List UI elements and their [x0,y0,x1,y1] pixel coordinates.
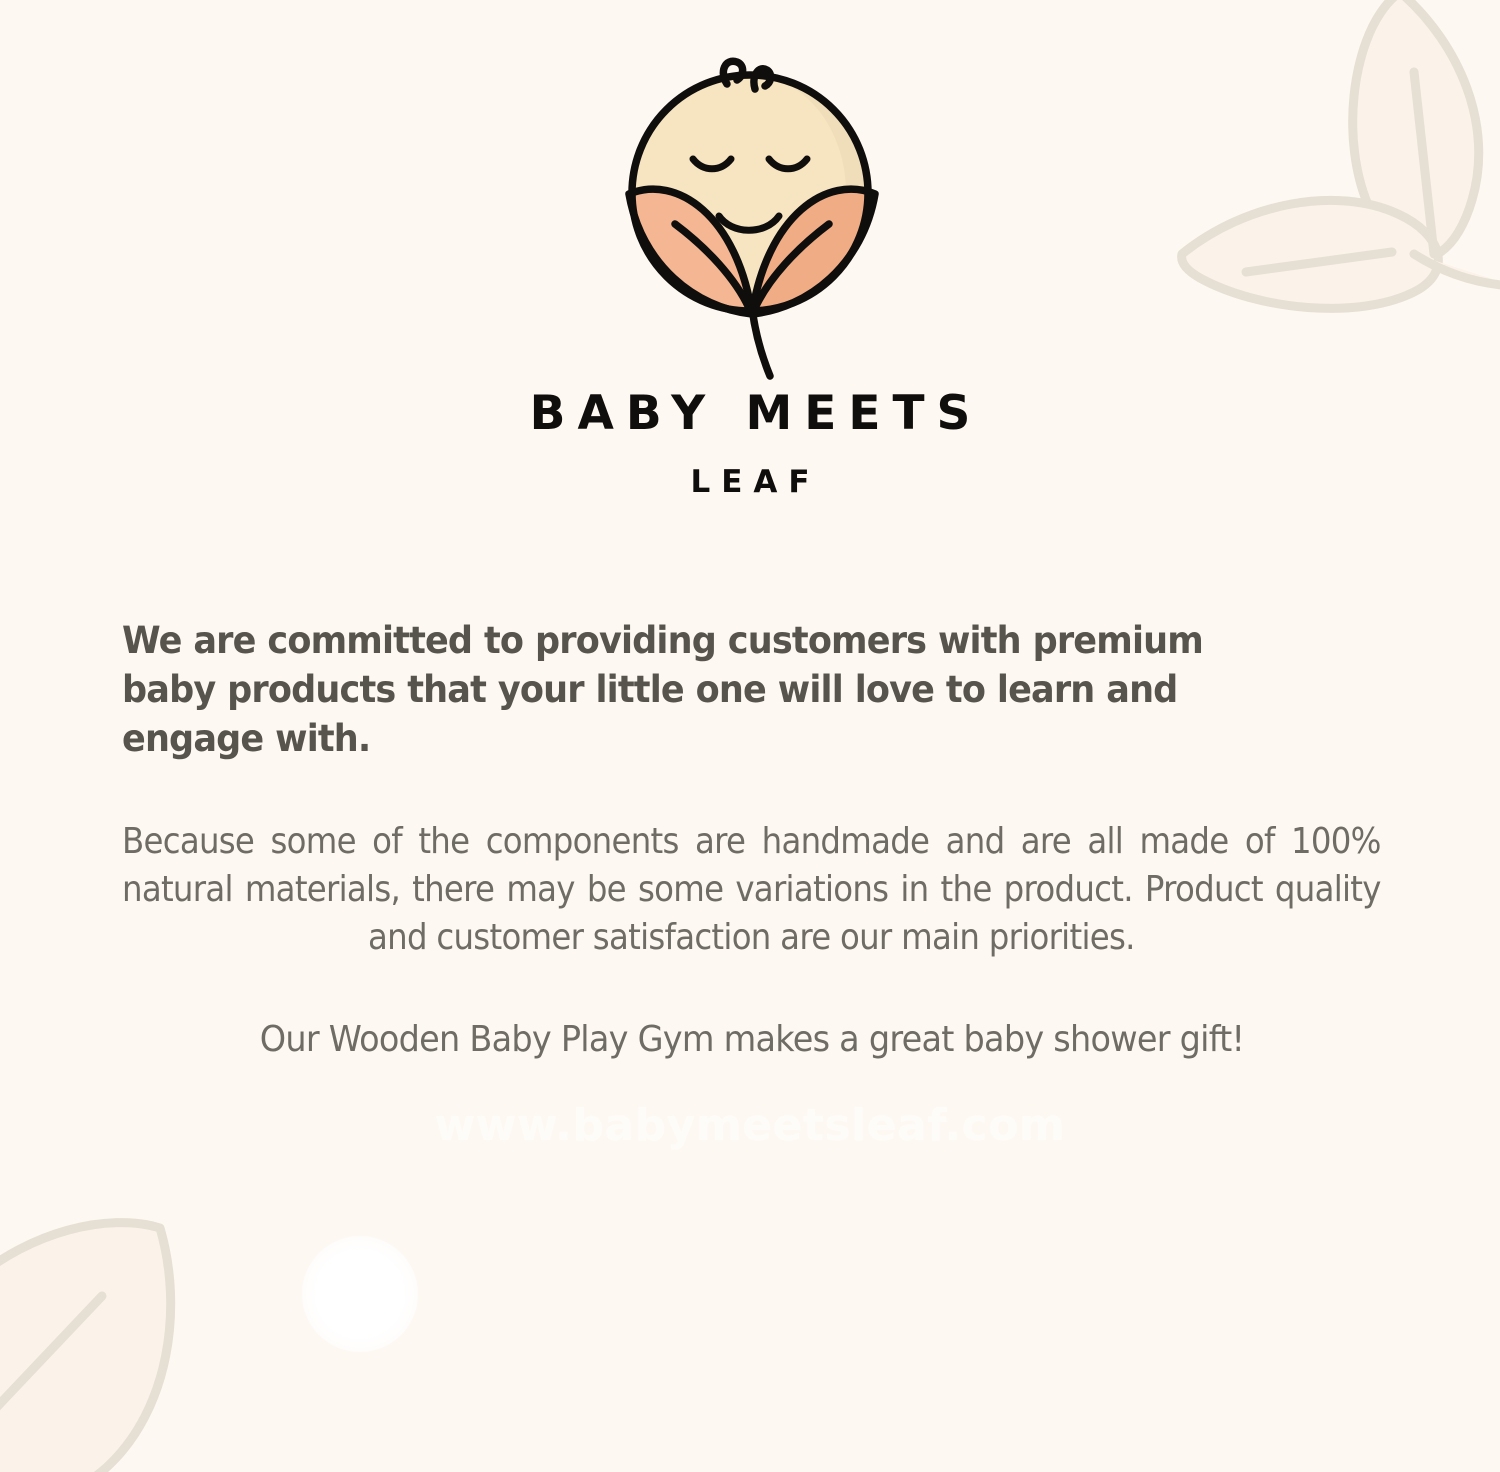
brand-logo: BABY MEETS LEAF [0,56,1500,498]
body-paragraph: Because some of the components are handm… [122,818,1381,962]
brand-name-line2: LEAF [518,467,983,498]
tagline-text: Our Wooden Baby Play Gym makes a great b… [166,1016,1338,1064]
brand-wordmark: BABY MEETS LEAF [518,390,983,498]
headline-text: We are committed to providing customers … [122,616,1300,762]
single-leaf-outline-icon [0,1204,232,1472]
statement-copy: We are committed to providing customers … [122,616,1382,1064]
paragraph-wrapper: Because some of the components are handm… [122,818,1382,962]
soft-glow-circle [302,1236,418,1352]
poster-canvas: BABY MEETS LEAF We are committed to prov… [0,0,1500,1472]
brand-name-line1: BABY MEETS [518,390,983,437]
baby-in-leaves-logo-icon [615,56,885,386]
website-watermark: www.babymeetsleaf.com [0,1100,1500,1151]
